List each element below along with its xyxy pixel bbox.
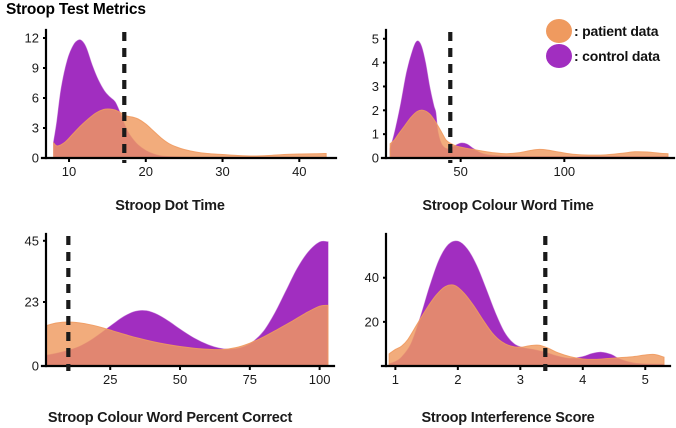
y-tick-label: 9 <box>32 61 39 76</box>
x-tick-label: 40 <box>292 164 306 179</box>
x-tick-label: 75 <box>243 372 257 387</box>
plot-area-dot-time: 03691210203040 <box>25 30 336 179</box>
plot-area-interference: 204012345 <box>365 234 670 387</box>
density-area-patient <box>54 109 326 158</box>
chart-svg-dot-time: 03691210203040 <box>0 16 340 198</box>
x-tick-label: 50 <box>453 164 467 179</box>
y-tick-label: 20 <box>365 314 379 329</box>
x-tick-label: 100 <box>309 372 331 387</box>
x-tick-label: 30 <box>215 164 229 179</box>
x-axis-label-cw-pct: Stroop Colour Word Percent Correct <box>0 410 340 426</box>
y-tick-label: 23 <box>25 295 39 310</box>
x-axis-label-cw-time: Stroop Colour Word Time <box>340 198 676 214</box>
x-tick-label: 3 <box>517 372 524 387</box>
x-tick-label: 5 <box>642 372 649 387</box>
density-area-patient <box>390 110 668 158</box>
chart-stroop-colour-word-percent-correct: 02345255075100 Stroop Colour Word Percen… <box>0 222 340 428</box>
y-tick-label: 4 <box>372 55 379 70</box>
legend-item-control: : control data <box>546 43 676 68</box>
y-tick-label: 5 <box>372 31 379 46</box>
y-tick-label: 6 <box>32 91 39 106</box>
y-tick-label: 0 <box>32 359 39 374</box>
plot-area-cw-pct: 02345255075100 <box>25 233 334 387</box>
y-tick-label: 12 <box>25 31 39 46</box>
legend-item-patient: : patient data <box>546 18 676 43</box>
y-tick-label: 40 <box>365 270 379 285</box>
patient-swatch-icon <box>546 19 572 43</box>
x-tick-label: 4 <box>579 372 586 387</box>
x-tick-label: 1 <box>392 372 399 387</box>
x-tick-label: 20 <box>139 164 153 179</box>
y-tick-label: 0 <box>32 151 39 166</box>
y-tick-label: 2 <box>372 103 379 118</box>
legend-label-control: : control data <box>574 48 660 64</box>
x-tick-label: 100 <box>553 164 575 179</box>
x-tick-label: 25 <box>103 372 117 387</box>
chart-svg-interference: 204012345 <box>340 222 676 410</box>
legend: : patient data : control data <box>546 18 676 68</box>
y-tick-label: 1 <box>372 127 379 142</box>
y-tick-label: 45 <box>25 233 39 248</box>
legend-label-patient: : patient data <box>574 23 658 39</box>
x-tick-label: 2 <box>454 372 461 387</box>
y-tick-label: 0 <box>372 151 379 166</box>
y-tick-label: 3 <box>372 79 379 94</box>
y-tick-label: 3 <box>32 121 39 136</box>
control-swatch-icon <box>546 44 572 68</box>
x-axis-label-dot-time: Stroop Dot Time <box>0 198 340 214</box>
x-axis-label-interference: Stroop Interference Score <box>340 410 676 426</box>
chart-svg-cw-pct: 02345255075100 <box>0 222 340 410</box>
chart-stroop-interference-score: 204012345 Stroop Interference Score <box>340 222 676 428</box>
x-tick-label: 10 <box>62 164 76 179</box>
chart-stroop-dot-time: 03691210203040 Stroop Dot Time <box>0 16 340 214</box>
x-tick-label: 50 <box>173 372 187 387</box>
